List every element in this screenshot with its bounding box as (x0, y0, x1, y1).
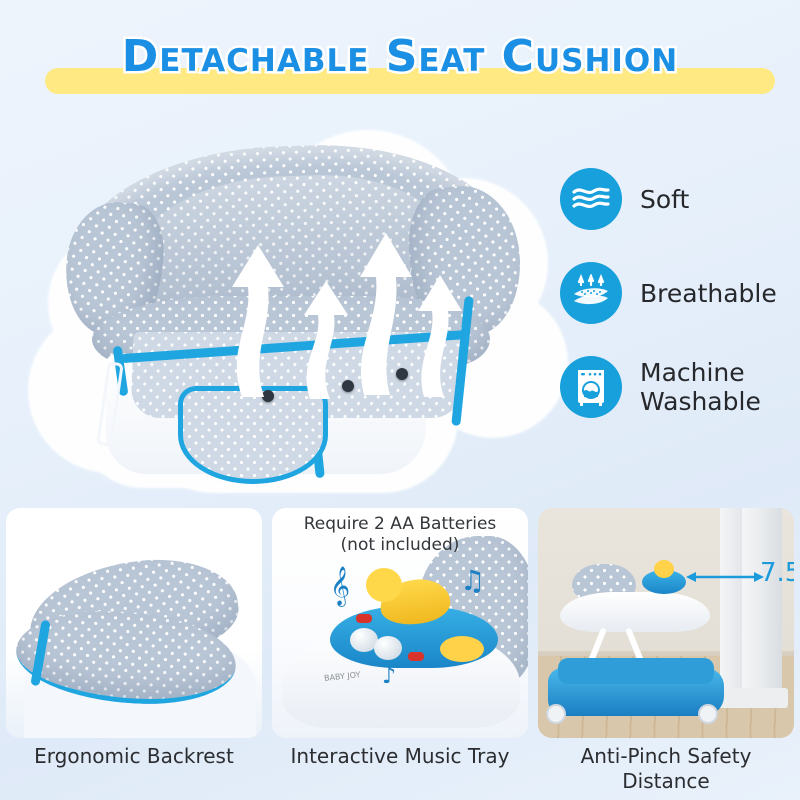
airflow-arrows-icon (206, 201, 466, 401)
waves-icon (571, 184, 611, 214)
red-button (356, 614, 372, 623)
feature-panels: 𝄞 ♫ ♪ BABY JOY Require 2 AA Batteries (n… (0, 508, 800, 800)
page-title: Detachable Seat Cushion (0, 26, 800, 88)
dimension-label: 7.5" (760, 558, 794, 588)
caption-line1: Anti-Pinch Safety (538, 744, 794, 769)
baseboard (714, 688, 788, 708)
panel-interactive-music-tray: 𝄞 ♫ ♪ BABY JOY Require 2 AA Batteries (n… (272, 508, 528, 738)
yellow-knob-toy (440, 636, 484, 662)
feature-label: Soft (640, 185, 689, 214)
music-note-icon: 𝄞 (330, 566, 350, 606)
red-button (408, 652, 424, 661)
battery-note-line2: (not included) (272, 535, 528, 556)
breathable-fabric-icon (570, 274, 612, 312)
panel-caption-anti-pinch-safety-distance: Anti-Pinch Safety Distance (538, 744, 794, 794)
hero-image (18, 108, 558, 500)
rolling-ball-toy (374, 636, 402, 660)
walker-toy-knob (654, 560, 674, 578)
feature-label: Machine Washable (640, 358, 790, 416)
panel-caption-interactive-music-tray: Interactive Music Tray (272, 744, 528, 769)
feature-item-soft[interactable]: Soft (560, 168, 800, 230)
walker-base-frame-inner (558, 658, 714, 684)
feature-icon-badge (560, 262, 622, 324)
infographic-page: Detachable Seat Cushion (0, 0, 800, 800)
walker-wheel (546, 704, 566, 724)
feature-icon-badge (560, 168, 622, 230)
battery-note-line1: Require 2 AA Batteries (272, 514, 528, 535)
washing-machine-icon (573, 367, 609, 407)
panel-anti-pinch-safety-distance: 7.5" (538, 508, 794, 738)
music-note-icon: ♫ (460, 564, 485, 597)
feature-item-breathable[interactable]: Breathable (560, 262, 800, 324)
seat-cushion-illustration (66, 146, 516, 476)
door-frame-edge (720, 508, 742, 708)
duck-toy-head (366, 568, 402, 602)
walker-wheel (698, 704, 718, 724)
panel-caption-ergonomic-backrest: Ergonomic Backrest (6, 744, 262, 769)
panel-ergonomic-backrest (6, 508, 262, 738)
feature-label: Breathable (640, 279, 777, 308)
page-title-banner: Detachable Seat Cushion (0, 26, 800, 98)
caption-line2: Distance (538, 769, 794, 794)
feature-list: Soft Breathable (560, 168, 800, 450)
dimension-arrow-icon (686, 570, 764, 584)
battery-note: Require 2 AA Batteries (not included) (272, 514, 528, 556)
music-note-icon: ♪ (382, 664, 396, 689)
feature-item-machine-washable[interactable]: Machine Washable (560, 356, 800, 418)
feature-icon-badge (560, 356, 622, 418)
